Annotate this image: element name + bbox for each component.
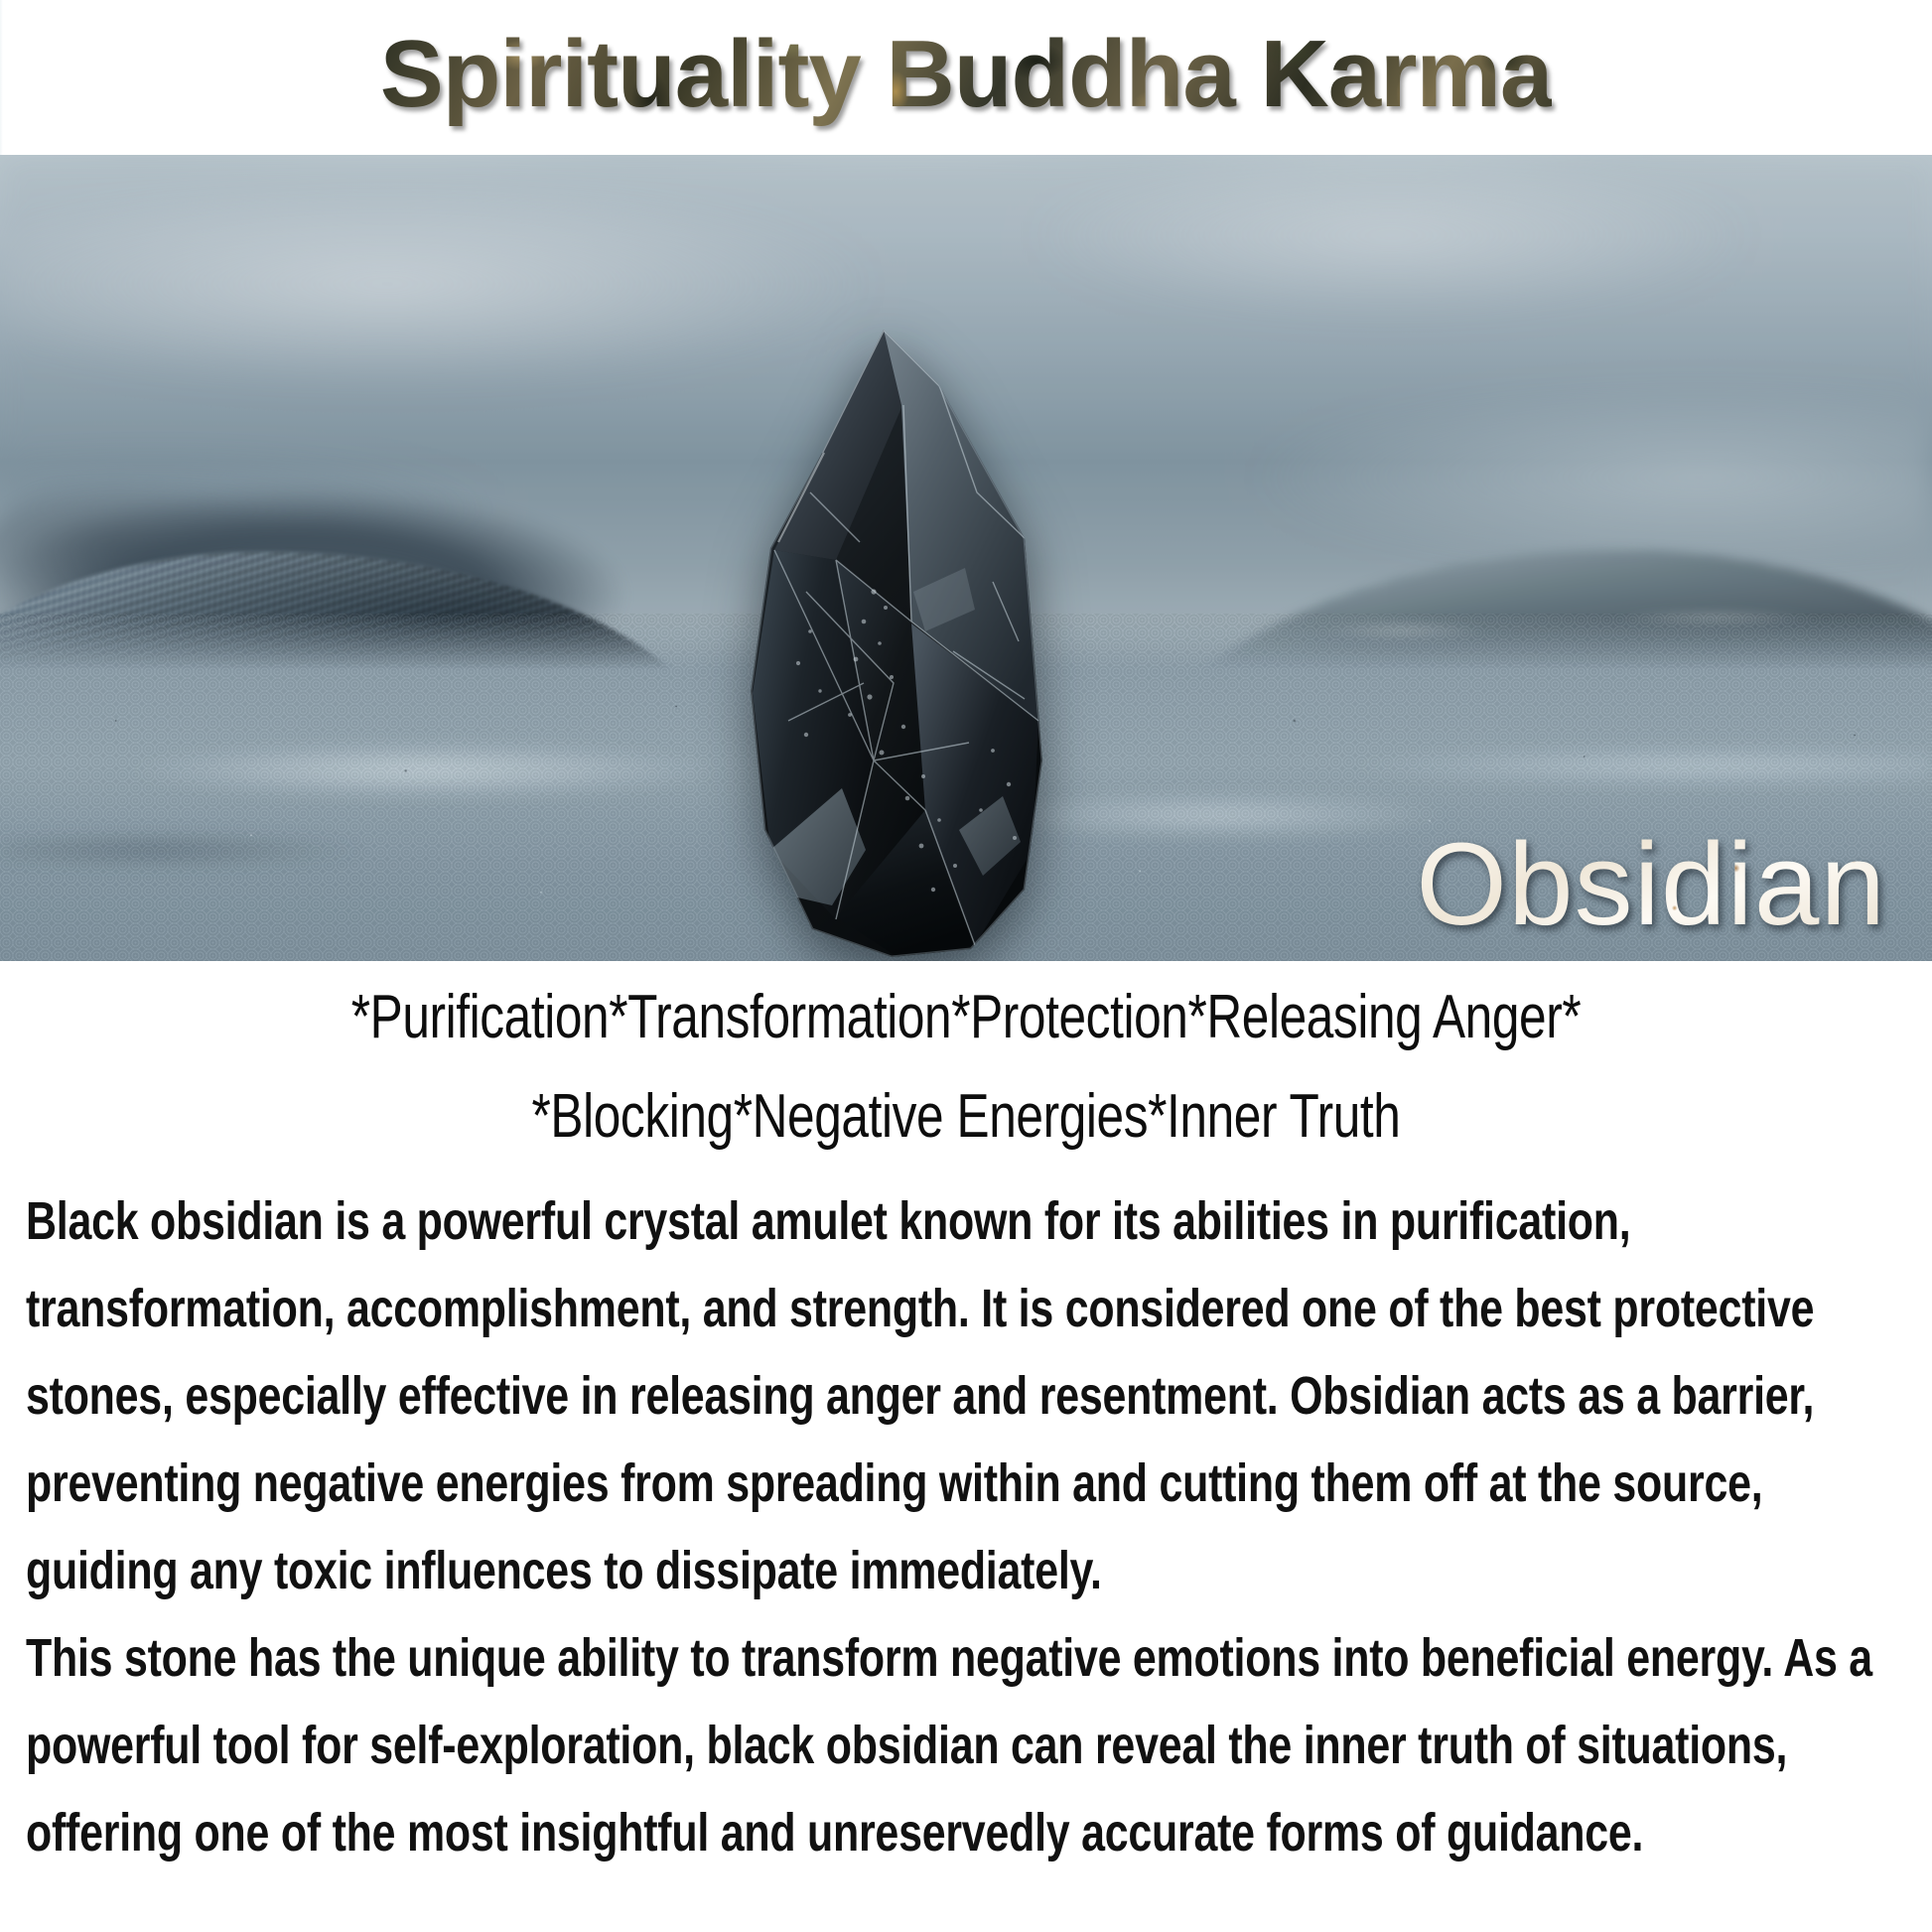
photo-caption-text: Obsidian [1416,826,1886,943]
site-title: Spirituality Buddha Karma [380,27,1553,128]
description-paragraph-2: This stone has the unique ability to tra… [26,1614,1915,1876]
product-info-card: Spirituality Buddha Karma [0,0,1932,1932]
photo-caption-obsidian: Obsidian [1416,826,1886,943]
hero-photo: Obsidian [0,155,1932,961]
header-banner: Spirituality Buddha Karma [0,0,1932,155]
obsidian-crystal-icon [536,294,1191,961]
keyword-block: *Purification*Transformation*Protection*… [0,968,1932,1167]
keyword-line-1: *Purification*Transformation*Protection*… [194,968,1739,1067]
description-block: Black obsidian is a powerful crystal amu… [26,1177,1912,1876]
keyword-line-2: *Blocking*Negative Energies*Inner Truth [194,1067,1739,1167]
description-paragraph-1: Black obsidian is a powerful crystal amu… [26,1177,1915,1614]
